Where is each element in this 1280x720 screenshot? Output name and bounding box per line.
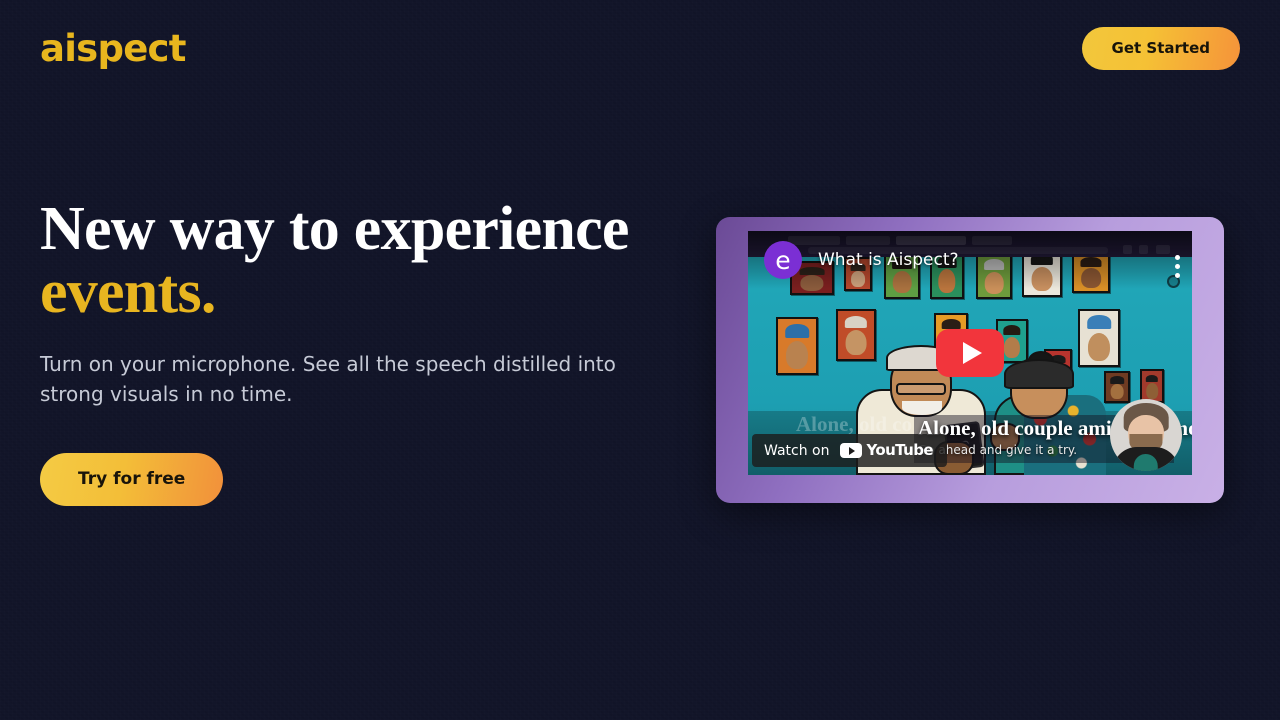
get-started-button[interactable]: Get Started <box>1082 27 1240 70</box>
more-options-icon[interactable] <box>1175 255 1180 278</box>
webcam-overlay <box>1110 399 1182 471</box>
video-player-card[interactable]: e What is Aispect? Alone, old co Alone, … <box>716 217 1224 503</box>
watch-on-youtube-button[interactable]: Watch on YouTube <box>752 434 947 467</box>
dot <box>1175 273 1180 278</box>
youtube-logo: YouTube <box>840 443 932 458</box>
video-screen[interactable]: e What is Aispect? Alone, old co Alone, … <box>748 231 1192 475</box>
wall-frame <box>1140 369 1164 403</box>
youtube-wordmark: YouTube <box>866 443 932 458</box>
site-header: aispect Get Started <box>0 0 1280 96</box>
try-for-free-button[interactable]: Try for free <box>40 453 223 506</box>
wall-frame <box>1104 371 1130 403</box>
video-title[interactable]: What is Aispect? <box>818 250 959 270</box>
hero-title-line-2-accent: events. <box>40 261 700 324</box>
dot <box>1175 264 1180 269</box>
man-glasses <box>896 383 946 395</box>
hero-title-line-1: New way to experience <box>40 195 629 263</box>
hero-title: New way to experience events. <box>40 198 700 324</box>
hero-subtitle: Turn on your microphone. See all the spe… <box>40 350 680 409</box>
dot <box>1175 255 1180 260</box>
hero-section: New way to experience events. Turn on yo… <box>40 198 700 506</box>
woman-hair <box>1004 359 1074 389</box>
wall-frame <box>836 309 876 361</box>
youtube-play-icon <box>840 443 862 458</box>
wall-frame <box>776 317 818 375</box>
watch-on-label: Watch on <box>764 444 829 458</box>
brand-logo[interactable]: aispect <box>40 30 186 67</box>
play-button[interactable] <box>936 329 1004 377</box>
youtube-title-bar: e What is Aispect? <box>748 231 1192 289</box>
channel-avatar[interactable]: e <box>764 241 802 279</box>
play-triangle-icon <box>963 342 982 364</box>
